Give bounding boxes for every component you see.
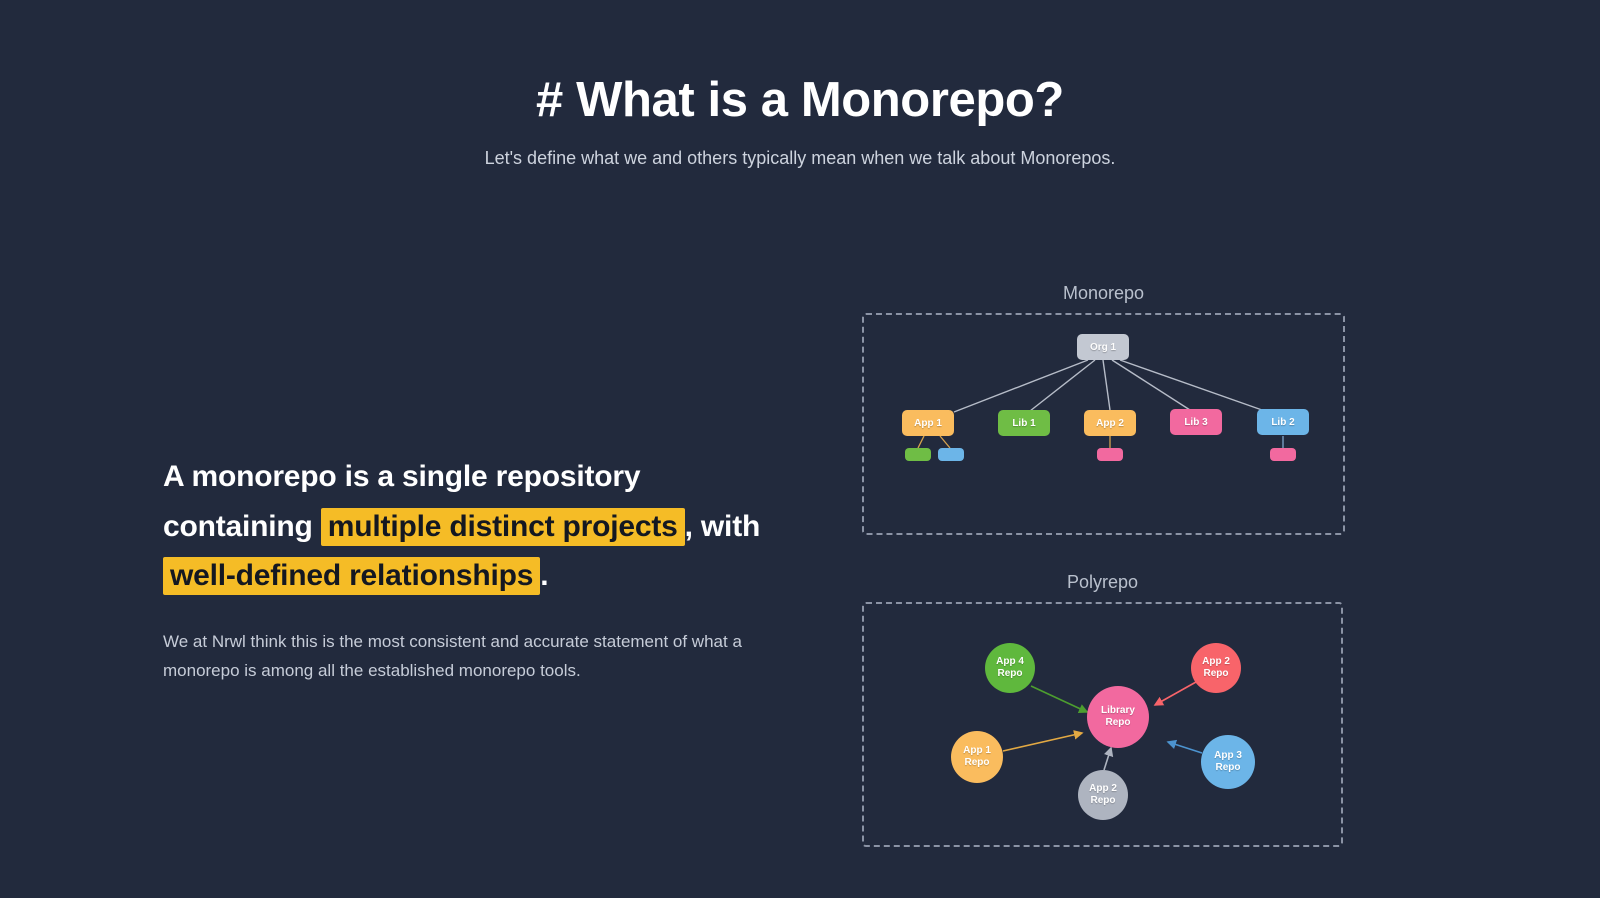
statement-highlight-1: multiple distinct projects	[321, 508, 685, 546]
polyrepo-node-app-2-repo-red[interactable]: App 2 Repo	[1191, 643, 1241, 693]
monorepo-node-app-1-label: App 1	[914, 418, 942, 429]
page-title: # What is a Monorepo?	[0, 74, 1600, 128]
polyrepo-node-app-1-repo-line2: Repo	[965, 757, 990, 770]
monorepo-node-app-2[interactable]: App 2	[1084, 410, 1136, 436]
monorepo-definition-statement: A monorepo is a single repository contai…	[163, 452, 793, 601]
polyrepo-node-library-repo-line2: Repo	[1106, 717, 1131, 730]
statement-part-2: , with	[685, 510, 760, 543]
monorepo-leaf-app-2-a[interactable]	[1097, 448, 1123, 461]
polyrepo-node-app-2-repo-red-line1: App 2	[1202, 656, 1230, 669]
monorepo-leaf-lib-2-a[interactable]	[1270, 448, 1296, 461]
monorepo-node-org-1-label: Org 1	[1090, 342, 1116, 353]
polyrepo-panel-title: Polyrepo	[862, 572, 1343, 593]
statement-highlight-2: well-defined relationships	[163, 557, 540, 595]
monorepo-node-org-1[interactable]: Org 1	[1077, 334, 1129, 360]
monorepo-leaf-app-1-b[interactable]	[938, 448, 964, 461]
monorepo-connectors	[0, 0, 1600, 898]
polyrepo-node-app-2-repo-gray-line2: Repo	[1091, 795, 1116, 808]
monorepo-leaf-app-1-a[interactable]	[905, 448, 931, 461]
polyrepo-node-library-repo[interactable]: Library Repo	[1087, 686, 1149, 748]
monorepo-node-lib-2-label: Lib 2	[1271, 417, 1294, 428]
polyrepo-node-app-1-repo-line1: App 1	[963, 745, 991, 758]
statement-column: A monorepo is a single repository contai…	[163, 452, 793, 685]
page-subtitle: Let's define what we and others typicall…	[0, 148, 1600, 169]
polyrepo-node-app-3-repo[interactable]: App 3 Repo	[1201, 735, 1255, 789]
polyrepo-node-library-repo-line1: Library	[1101, 705, 1135, 718]
polyrepo-node-app-3-repo-line2: Repo	[1216, 762, 1241, 775]
body-paragraph: We at Nrwl think this is the most consis…	[163, 627, 778, 685]
polyrepo-node-app-4-repo[interactable]: App 4 Repo	[985, 643, 1035, 693]
polyrepo-node-app-4-repo-line2: Repo	[998, 668, 1023, 681]
monorepo-panel-title: Monorepo	[862, 283, 1345, 304]
polyrepo-connectors	[0, 0, 1600, 898]
monorepo-node-lib-3-label: Lib 3	[1184, 417, 1207, 428]
polyrepo-node-app-3-repo-line1: App 3	[1214, 750, 1242, 763]
polyrepo-node-app-2-repo-gray-line1: App 2	[1089, 783, 1117, 796]
monorepo-node-lib-2[interactable]: Lib 2	[1257, 409, 1309, 435]
monorepo-node-lib-3[interactable]: Lib 3	[1170, 409, 1222, 435]
page-root: # What is a Monorepo? Let's define what …	[0, 0, 1600, 898]
monorepo-node-lib-1[interactable]: Lib 1	[998, 410, 1050, 436]
statement-part-3: .	[540, 559, 548, 592]
polyrepo-node-app-4-repo-line1: App 4	[996, 656, 1024, 669]
monorepo-node-app-2-label: App 2	[1096, 418, 1124, 429]
monorepo-node-app-1[interactable]: App 1	[902, 410, 954, 436]
polyrepo-node-app-1-repo[interactable]: App 1 Repo	[951, 731, 1003, 783]
monorepo-node-lib-1-label: Lib 1	[1012, 418, 1035, 429]
polyrepo-node-app-2-repo-red-line2: Repo	[1204, 668, 1229, 681]
polyrepo-node-app-2-repo-gray[interactable]: App 2 Repo	[1078, 770, 1128, 820]
